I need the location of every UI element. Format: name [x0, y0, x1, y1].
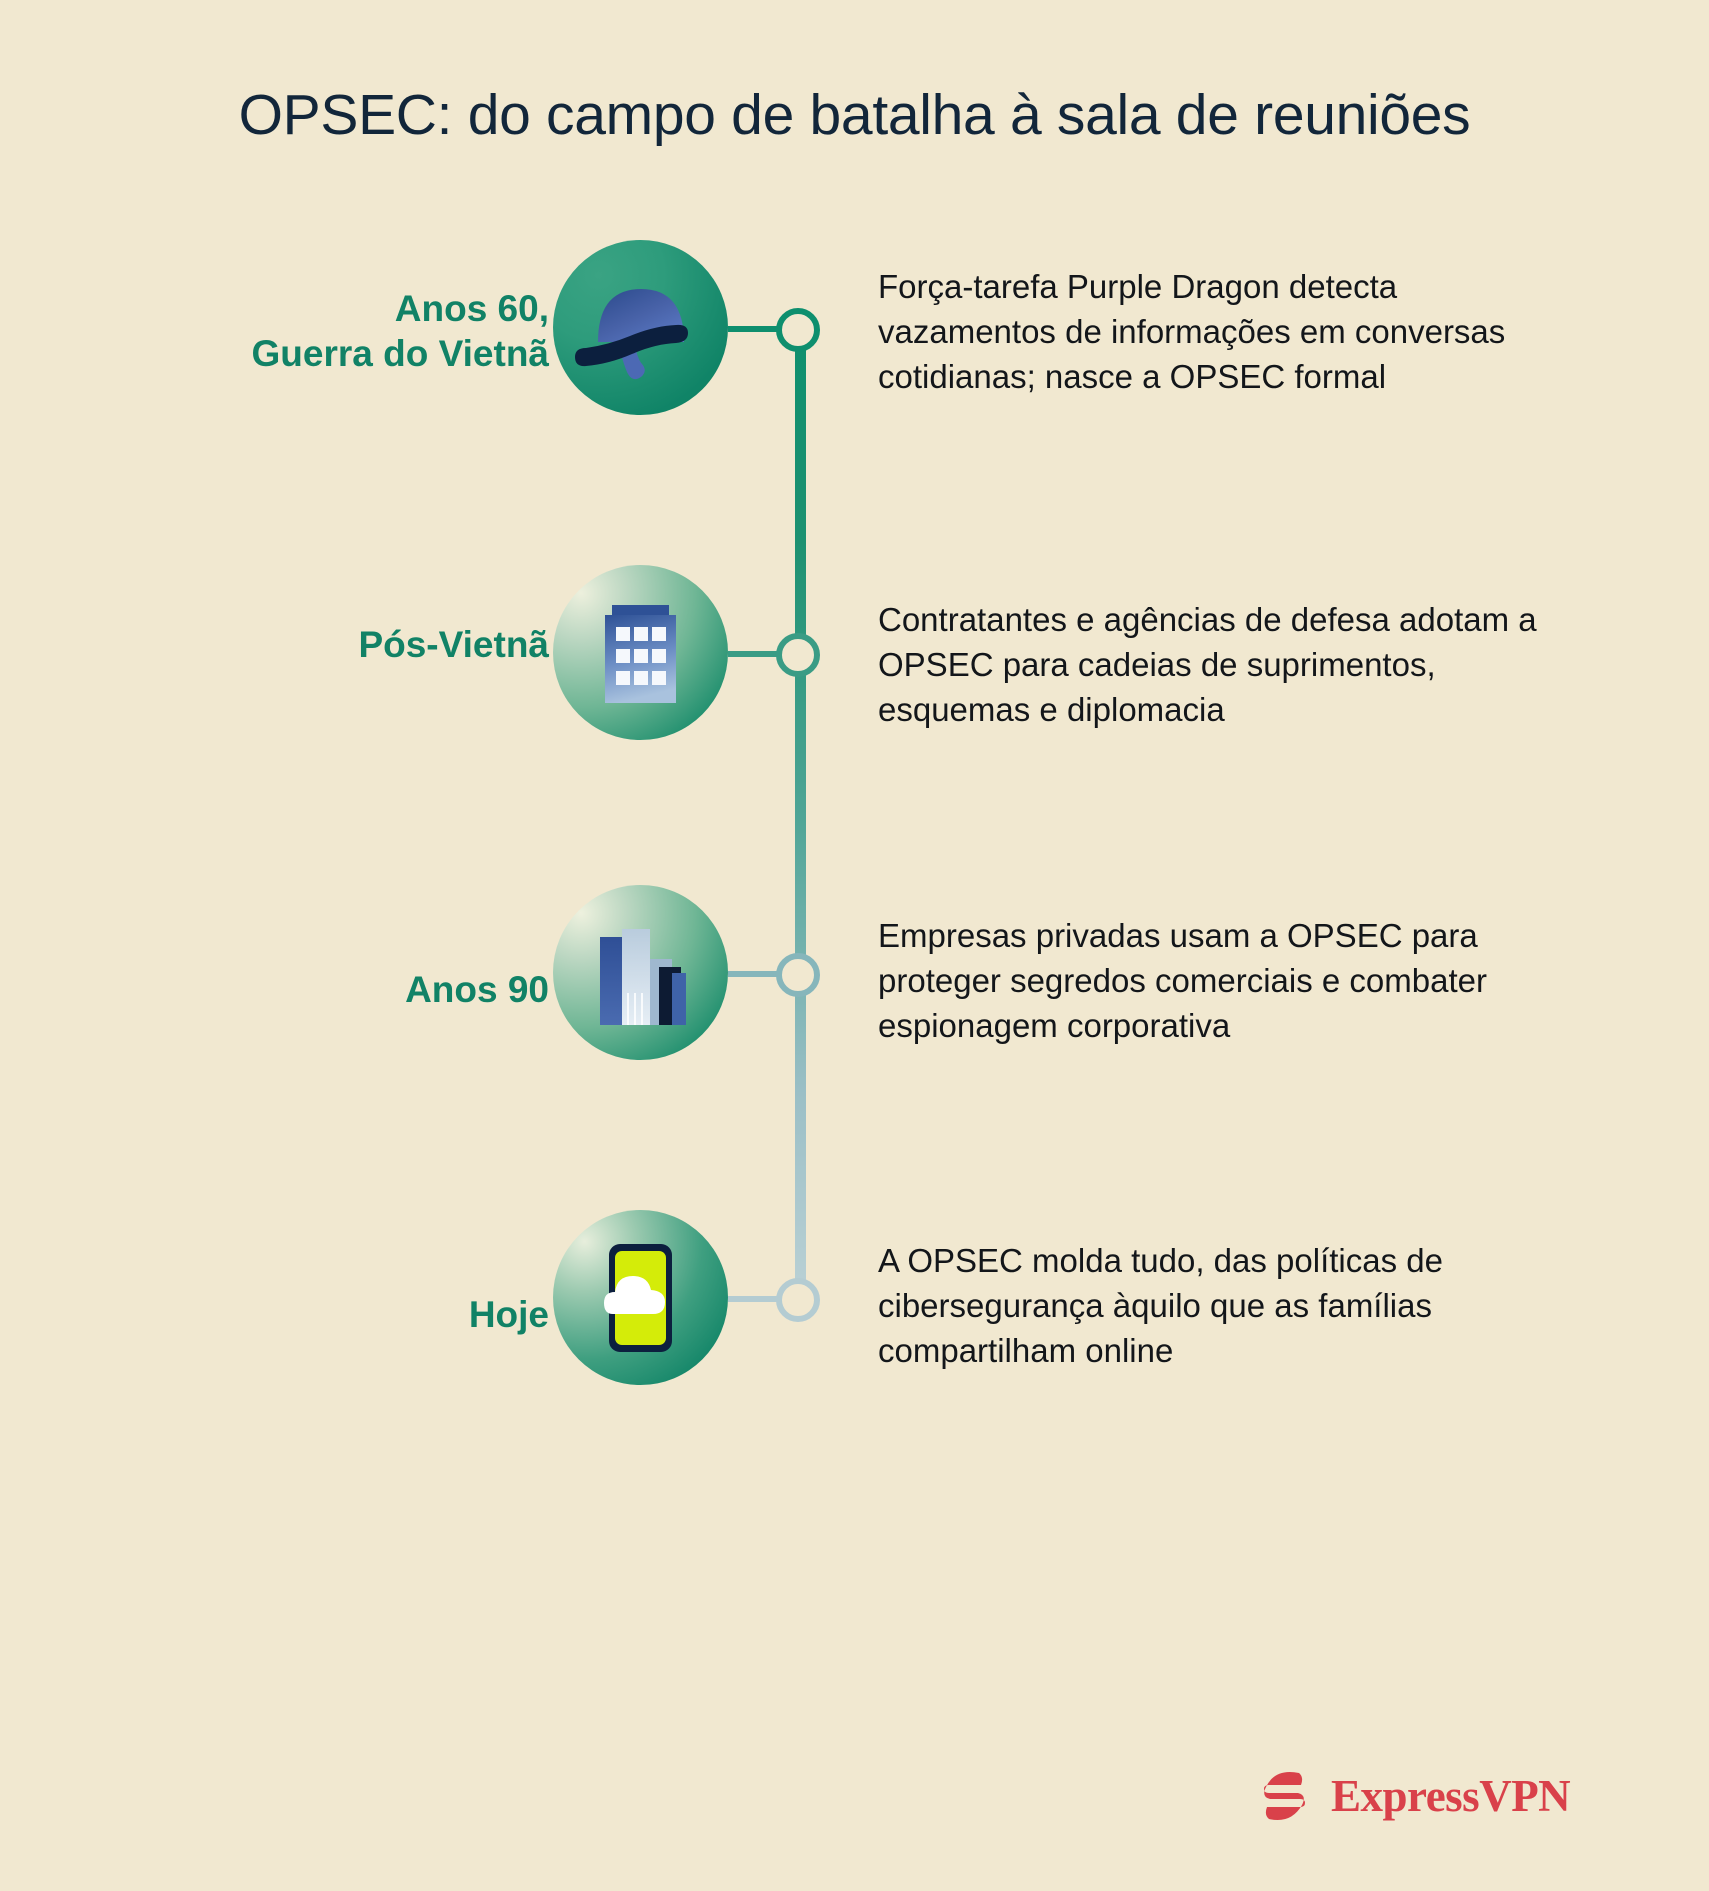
era-label-1-line1: Anos 60,	[395, 288, 549, 329]
era-label-4: Hoje	[0, 1292, 549, 1337]
expressvpn-mark-icon	[1255, 1765, 1317, 1827]
description-3: Empresas privadas usam a OPSEC para prot…	[878, 913, 1578, 1049]
timeline-spine	[795, 325, 806, 1310]
government-building-icon	[553, 565, 728, 740]
page-title: OPSEC: do campo de batalha à sala de reu…	[0, 82, 1709, 148]
infographic-page: OPSEC: do campo de batalha à sala de reu…	[0, 0, 1709, 1891]
era-label-1: Anos 60, Guerra do Vietnã	[0, 286, 549, 376]
expressvpn-wordmark: ExpressVPN	[1331, 1770, 1570, 1822]
smartphone-cloud-icon	[553, 1210, 728, 1385]
military-helmet-icon	[553, 240, 728, 415]
description-2: Contratantes e agências de defesa adotam…	[878, 597, 1578, 733]
corporate-skyscrapers-icon	[553, 885, 728, 1060]
era-label-3: Anos 90	[0, 967, 549, 1012]
era-label-2: Pós-Vietnã	[0, 622, 549, 667]
timeline-node-2[interactable]	[776, 633, 820, 677]
timeline-node-4[interactable]	[776, 1278, 820, 1322]
description-4: A OPSEC molda tudo, das políticas de cib…	[878, 1238, 1578, 1374]
expressvpn-logo[interactable]: ExpressVPN	[1255, 1765, 1570, 1827]
description-1: Força-tarefa Purple Dragon detecta vazam…	[878, 264, 1578, 400]
era-label-1-line2: Guerra do Vietnã	[252, 333, 549, 374]
timeline-node-1[interactable]	[776, 308, 820, 352]
timeline-node-3[interactable]	[776, 953, 820, 997]
